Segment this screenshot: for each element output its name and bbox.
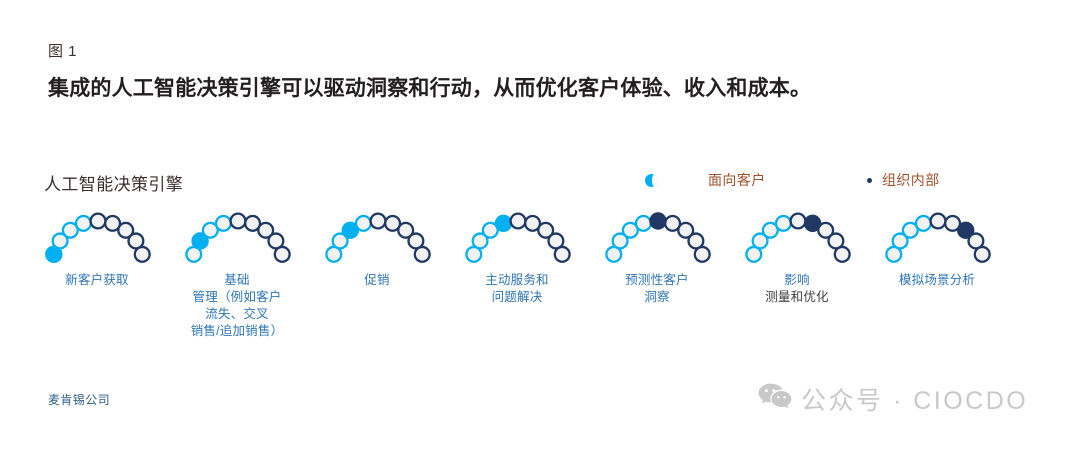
arc-label-line: 新客户获取 bbox=[22, 272, 172, 289]
arc-group[interactable] bbox=[168, 205, 308, 275]
arc-label-line: 模拟场景分析 bbox=[862, 272, 1012, 289]
arc-node bbox=[636, 216, 651, 231]
arc-group[interactable] bbox=[308, 205, 448, 275]
arc-node bbox=[135, 247, 150, 262]
arc-label-line: 管理（例如客户 bbox=[162, 289, 312, 306]
arc-node bbox=[356, 216, 371, 231]
arc-label-line: 流失、交叉 bbox=[162, 306, 312, 323]
arc-node-highlighted bbox=[650, 213, 666, 229]
arc-label: 新客户获取 bbox=[22, 272, 172, 289]
arc-label: 预测性客户洞察 bbox=[582, 272, 732, 306]
legend-label-internal: 组织内部 bbox=[882, 170, 940, 190]
arc-group[interactable] bbox=[28, 205, 168, 275]
source-note: 麦肯锡公司 bbox=[48, 391, 110, 408]
arc-label-line: 问题解决 bbox=[442, 289, 592, 306]
arc-label: 主动服务和问题解决 bbox=[442, 272, 592, 306]
arc-node bbox=[76, 216, 91, 231]
arc-label-line: 促销 bbox=[302, 272, 452, 289]
arc-label-line: 预测性客户 bbox=[582, 272, 732, 289]
chart-title: 人工智能决策引擎 bbox=[44, 170, 183, 195]
legend-item-customer-facing: 面向客户 bbox=[645, 170, 766, 190]
arc-node bbox=[776, 216, 791, 231]
chart-legend: 面向客户 组织内部 bbox=[645, 170, 1035, 194]
arc-label-line: 销售/追加销售） bbox=[162, 323, 312, 340]
arc-label-line: 基础 bbox=[162, 272, 312, 289]
small-dot-icon bbox=[867, 178, 872, 183]
arc-node bbox=[91, 214, 106, 229]
arc-node bbox=[975, 247, 990, 262]
arc-node bbox=[216, 216, 231, 231]
watermark-text: 公众号 · CIOCDO bbox=[801, 381, 1028, 417]
legend-item-internal: 组织内部 bbox=[867, 170, 940, 190]
arc-group[interactable] bbox=[868, 205, 1008, 275]
chart-container: 人工智能决策引擎 面向客户 组织内部 新客户获取基础管理（例如客户流失、交叉销售… bbox=[0, 0, 1080, 455]
arc-node bbox=[555, 247, 570, 262]
half-circle-icon bbox=[645, 174, 658, 187]
arc-node bbox=[835, 247, 850, 262]
arc-label: 模拟场景分析 bbox=[862, 272, 1012, 289]
arc-group[interactable] bbox=[448, 205, 588, 275]
arc-label-line: 洞察 bbox=[582, 289, 732, 306]
arc-label-line: 影响 bbox=[722, 272, 872, 289]
arc-group[interactable] bbox=[728, 205, 868, 275]
arc-node bbox=[916, 216, 931, 231]
arc-node bbox=[695, 247, 710, 262]
arc-label: 基础管理（例如客户流失、交叉销售/追加销售） bbox=[162, 272, 312, 340]
arc-node-highlighted bbox=[495, 215, 511, 231]
arc-node bbox=[371, 214, 386, 229]
arc-label: 影响测量和优化 bbox=[722, 272, 872, 306]
arc-node bbox=[415, 247, 430, 262]
arc-group[interactable] bbox=[588, 205, 728, 275]
legend-label-customer-facing: 面向客户 bbox=[708, 170, 766, 190]
arc-label-row: 新客户获取基础管理（例如客户流失、交叉销售/追加销售）促销主动服务和问题解决预测… bbox=[0, 272, 1080, 382]
arc-node bbox=[511, 214, 526, 229]
arc-label: 促销 bbox=[302, 272, 452, 289]
arc-node bbox=[275, 247, 290, 262]
arc-node bbox=[791, 214, 806, 229]
arc-label-line: 测量和优化 bbox=[722, 289, 872, 306]
watermark: 公众号 · CIOCDO bbox=[758, 381, 1028, 417]
arc-node bbox=[231, 214, 246, 229]
arc-node bbox=[931, 214, 946, 229]
wechat-icon bbox=[758, 383, 792, 415]
arc-label-line: 主动服务和 bbox=[442, 272, 592, 289]
